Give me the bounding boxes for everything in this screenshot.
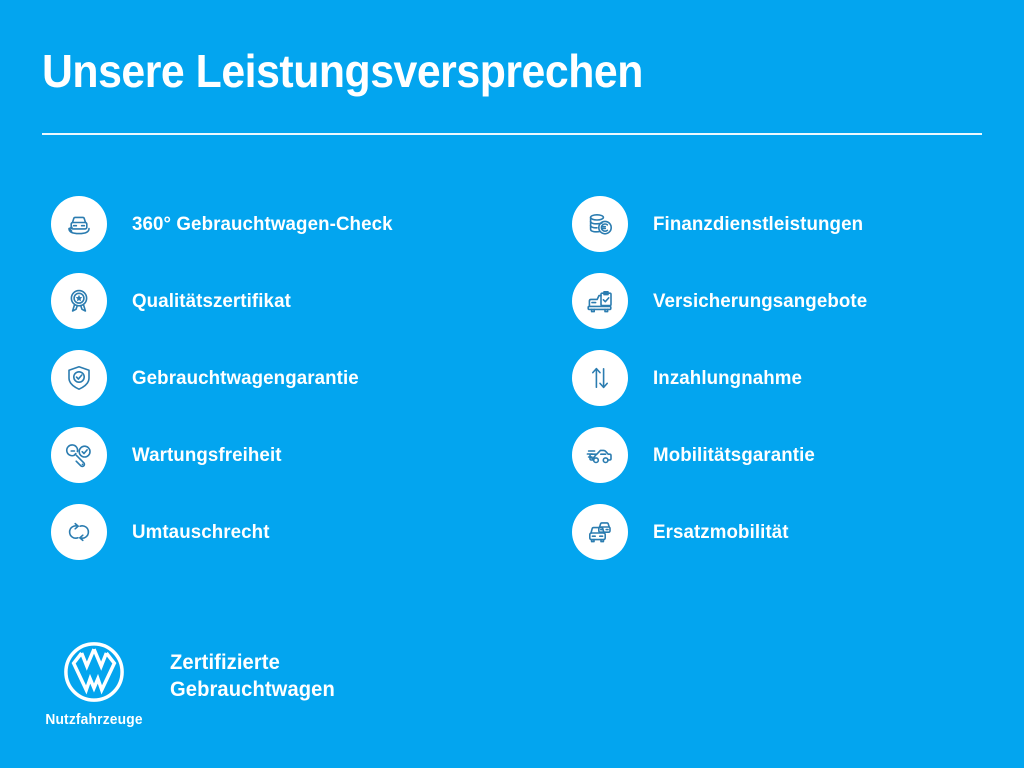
feature-label: Gebrauchtwagengarantie bbox=[132, 367, 359, 390]
car-clipboard-check-icon bbox=[572, 273, 628, 329]
feature-item-gebrauchtwagengarantie[interactable]: Gebrauchtwagengarantie bbox=[51, 350, 521, 406]
page-title: Unsere Leistungsversprechen bbox=[42, 47, 643, 96]
feature-item-umtauschrecht[interactable]: Umtauschrecht bbox=[51, 504, 521, 560]
feature-item-mobilitaetsgarantie[interactable]: Mobilitätsgarantie bbox=[572, 427, 1012, 483]
two-cars-icon bbox=[572, 504, 628, 560]
feature-label: Versicherungsangebote bbox=[653, 290, 867, 313]
feature-item-finanzdienstleistungen[interactable]: Finanzdienstleistungen bbox=[572, 196, 1012, 252]
coins-euro-icon bbox=[572, 196, 628, 252]
feature-item-inzahlungnahme[interactable]: Inzahlungnahme bbox=[572, 350, 1012, 406]
feature-column-left: 360° Gebrauchtwagen-Check Qualitätszerti… bbox=[51, 196, 521, 581]
feature-item-wartungsfreiheit[interactable]: Wartungsfreiheit bbox=[51, 427, 521, 483]
feature-label: Inzahlungnahme bbox=[653, 367, 802, 390]
feature-label: Umtauschrecht bbox=[132, 521, 270, 544]
feature-label: Finanzdienstleistungen bbox=[653, 213, 863, 236]
van-check-icon bbox=[572, 427, 628, 483]
feature-item-versicherungsangebote[interactable]: Versicherungsangebote bbox=[572, 273, 1012, 329]
feature-label: Wartungsfreiheit bbox=[132, 444, 282, 467]
feature-item-ersatzmobilitaet[interactable]: Ersatzmobilität bbox=[572, 504, 1012, 560]
vw-logo bbox=[63, 641, 125, 703]
brand-claim-line2: Gebrauchtwagen bbox=[170, 677, 335, 704]
brand-claim: Zertifizierte Gebrauchtwagen bbox=[170, 650, 335, 704]
shield-check-icon bbox=[51, 350, 107, 406]
exchange-arrows-icon bbox=[51, 504, 107, 560]
brand-sub-label: Nutzfahrzeuge bbox=[43, 712, 146, 728]
brand-claim-line1: Zertifizierte bbox=[170, 650, 335, 677]
feature-label: Ersatzmobilität bbox=[653, 521, 789, 544]
brand-lockup: Nutzfahrzeuge Zertifizierte Gebrauchtwag… bbox=[40, 641, 342, 728]
feature-item-qualitaetszertifikat[interactable]: Qualitätszertifikat bbox=[51, 273, 521, 329]
feature-item-gebrauchtwagen-check[interactable]: 360° Gebrauchtwagen-Check bbox=[51, 196, 521, 252]
feature-label: 360° Gebrauchtwagen-Check bbox=[132, 213, 393, 236]
feature-label: Mobilitätsgarantie bbox=[653, 444, 815, 467]
feature-column-right: Finanzdienstleistungen Versicherungsange… bbox=[572, 196, 1012, 581]
title-divider bbox=[42, 133, 982, 135]
award-rosette-icon bbox=[51, 273, 107, 329]
brand-mark: Nutzfahrzeuge bbox=[40, 641, 148, 728]
feature-label: Qualitätszertifikat bbox=[132, 290, 291, 313]
wrench-check-icon bbox=[51, 427, 107, 483]
car-360-check-icon bbox=[51, 196, 107, 252]
slide-canvas: Unsere Leistungsversprechen 360° Gebrauc… bbox=[0, 0, 1024, 768]
up-down-arrows-icon bbox=[572, 350, 628, 406]
